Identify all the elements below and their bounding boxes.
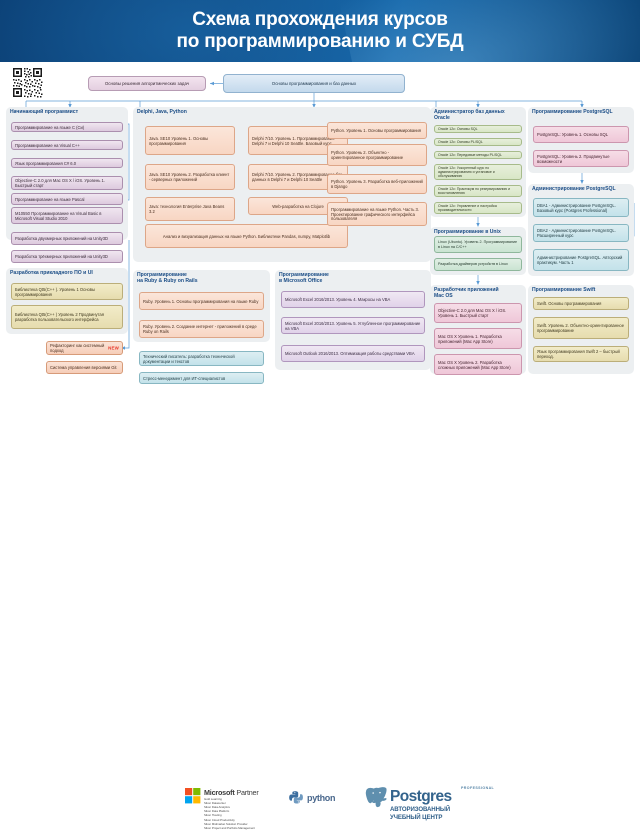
microsoft-partner-title: Microsoft Partner xyxy=(204,788,259,797)
flow-box-algorithms[interactable]: Основы решения алгоритмических задач xyxy=(88,76,206,91)
course-card[interactable]: Python. Уровень 2. Объектно - ориентиров… xyxy=(327,144,427,166)
course-card[interactable]: Ruby. Уровень 2. Создание интернет - при… xyxy=(139,320,264,338)
group-macos-title-line-2: Mac OS xyxy=(434,294,522,300)
footer: Microsoft Partner Gold Learning Silver D… xyxy=(0,392,640,433)
course-card[interactable]: Oracle 12c: Основы SQL xyxy=(434,125,522,133)
group-msoffice-title-line-2: в Microsoft Office xyxy=(279,279,427,285)
course-card[interactable]: Язык программирования Swift 2 – быстрый … xyxy=(533,346,629,362)
postgres-professional-label: PROFESSIONAL xyxy=(461,786,494,790)
group-msoffice-title: Программирование в Microsoft Office xyxy=(275,270,431,287)
course-card[interactable]: Библиотека Qt5(C++ ) Уровень 2 Продвинут… xyxy=(11,305,123,329)
flow-box-basics-label: Основы программирования и баз данных xyxy=(272,81,356,86)
course-card[interactable]: Ruby. Уровень 1. Основы программирования… xyxy=(139,292,264,310)
group-pgprog-title: Программирование PostgreSQL xyxy=(528,107,634,118)
course-card[interactable]: Mac OS X Уровень 1. Разработка приложени… xyxy=(434,328,522,349)
python-wordmark: python xyxy=(307,793,335,803)
group-oracle-title: Администратор баз данных Oracle xyxy=(430,107,526,124)
course-card[interactable]: Objective-C 2.0 для Mac OS X / iOS. Уров… xyxy=(434,303,522,323)
course-card-refactoring[interactable]: Рефакторинг как системный подход NEW xyxy=(46,341,123,355)
course-card[interactable]: Библиотека Qt5(C++ ). Уровень 1 Основы п… xyxy=(11,283,123,300)
course-card[interactable]: Администрирование PostgreSQL. Авторский … xyxy=(533,249,629,271)
new-badge: NEW xyxy=(108,345,119,350)
group-djp-title: Delphi, Java, Python xyxy=(133,107,431,118)
course-card[interactable]: Objective-C 2.0 для Mac OS X / iOS. Уров… xyxy=(11,176,123,190)
page-title: Схема прохождения курсов по программиров… xyxy=(0,0,640,54)
group-appdev-title: Разработка прикладного ПО и UI xyxy=(6,268,128,279)
course-card[interactable]: Разработка драйверов устройств в Linux xyxy=(434,258,522,271)
course-card[interactable]: Swift. Уровень 2. Объектно-ориентированн… xyxy=(533,317,629,339)
flow-box-algorithms-label: Основы решения алгоритмических задач xyxy=(105,81,189,86)
authorized-training-center-label: АВТОРИЗОВАННЫЙ УЧЕБНЫЙ ЦЕНТР xyxy=(390,806,450,821)
course-card[interactable]: PostgreSQL: Уровень 1. Основы SQL xyxy=(533,126,629,143)
group-macos-title: Разработчик приложений Mac OS xyxy=(430,285,526,302)
course-card[interactable]: Swift. Основы программирования xyxy=(533,297,629,310)
course-card[interactable]: Microsoft Excel 2016/2013. Уровень 4. Ма… xyxy=(281,291,425,308)
course-card[interactable]: Разработка трёхмерных приложений на Unit… xyxy=(11,250,123,263)
page-header: Схема прохождения курсов по программиров… xyxy=(0,0,640,62)
course-card[interactable]: Java. SE10 Уровень 1. Основы программиро… xyxy=(145,126,235,155)
course-card[interactable]: Программирование на языке C (Си) xyxy=(11,122,123,132)
microsoft-logo-icon xyxy=(185,788,201,804)
group-oracle-dba: Администратор баз данных Oracle xyxy=(430,107,526,217)
page-title-line-2: по программированию и СУБД xyxy=(0,31,640,53)
course-card[interactable]: Oracle 12c: Передовые методы PL/SQL xyxy=(434,151,522,159)
group-ruby-title: Программирование на Ruby & Ruby on Rails xyxy=(133,270,270,287)
group-ruby-title-line-2: на Ruby & Ruby on Rails xyxy=(137,279,266,285)
course-card[interactable]: Технический писатель: разработка техниче… xyxy=(139,351,264,366)
course-card[interactable]: Oracle 12c: Управление и настройка произ… xyxy=(434,202,522,214)
course-card[interactable]: Программирование на языке Python. Часть … xyxy=(327,202,427,226)
course-card[interactable]: Python. Уровень 3. Разработка веб-прилож… xyxy=(327,174,427,194)
course-card[interactable]: Программирование на языке Pascal xyxy=(11,193,123,205)
microsoft-competency-list: Gold Learning Silver Datacenter Silver D… xyxy=(204,797,255,830)
postgres-elephant-icon xyxy=(364,786,388,810)
course-card[interactable]: DBA2 - Администрирование PostgreSQL. Рас… xyxy=(533,224,629,242)
course-card[interactable]: M10550 Программирование на Visual Basic … xyxy=(11,207,123,224)
course-card[interactable]: Oracle 12c: Ускоренный курс по администр… xyxy=(434,164,522,180)
course-card[interactable]: Linux (Ubuntu). Уровень 2. Программирова… xyxy=(434,236,522,253)
course-card[interactable]: Python. Уровень 1. Основы программирован… xyxy=(327,122,427,139)
group-pgadmin-title: Администрирование PostgreSQL xyxy=(528,184,634,195)
course-card[interactable]: Mac OS X Уровень 2. Разработка сложных п… xyxy=(434,354,522,375)
course-card[interactable]: Oracle 12c: Основы PL/SQL xyxy=(434,138,522,146)
course-card[interactable]: Oracle 12c: Практикум по резервированию … xyxy=(434,185,522,197)
group-swift-title: Программирование Swift xyxy=(528,285,634,296)
course-card[interactable]: Анализ и визуализация данных на языке Py… xyxy=(145,224,348,248)
course-card[interactable]: Стресс-менеджмент для ИТ-специалистов xyxy=(139,372,264,384)
group-oracle-title-line-2: Oracle xyxy=(434,116,522,122)
page-title-line-1: Схема прохождения курсов xyxy=(0,9,640,31)
course-card[interactable]: Система управления версиями Git xyxy=(46,361,123,374)
course-card[interactable]: PostgreSQL: Уровень 2. Продвинутые возмо… xyxy=(533,150,629,167)
postgres-wordmark: Postgres xyxy=(390,788,452,806)
course-card[interactable]: Разработка двухмерных приложений на Unit… xyxy=(11,232,123,245)
group-beginner-title: Начинающий программист xyxy=(6,107,128,118)
course-card[interactable]: Java: технология Enterprise Java Beans 3… xyxy=(145,197,235,221)
course-card[interactable]: Программирование на Visual C++ xyxy=(11,140,123,150)
flow-box-basics[interactable]: Основы программирования и баз данных xyxy=(223,74,405,93)
course-card[interactable]: Microsoft Outlook 2016/2013. Оптимизация… xyxy=(281,345,425,362)
course-card[interactable]: DBA1 - Администрирование PostgreSQL. Баз… xyxy=(533,198,629,217)
course-card[interactable]: Microsoft Excel 2016/2013. Уровень 5. Уг… xyxy=(281,317,425,334)
course-card[interactable]: Язык программирования C# 6.0 xyxy=(11,158,123,168)
course-card[interactable]: Java. SE10 Уровень 2. Разработка клиент … xyxy=(145,164,235,190)
qr-code-icon[interactable] xyxy=(11,66,44,99)
python-logo-icon xyxy=(288,790,305,807)
